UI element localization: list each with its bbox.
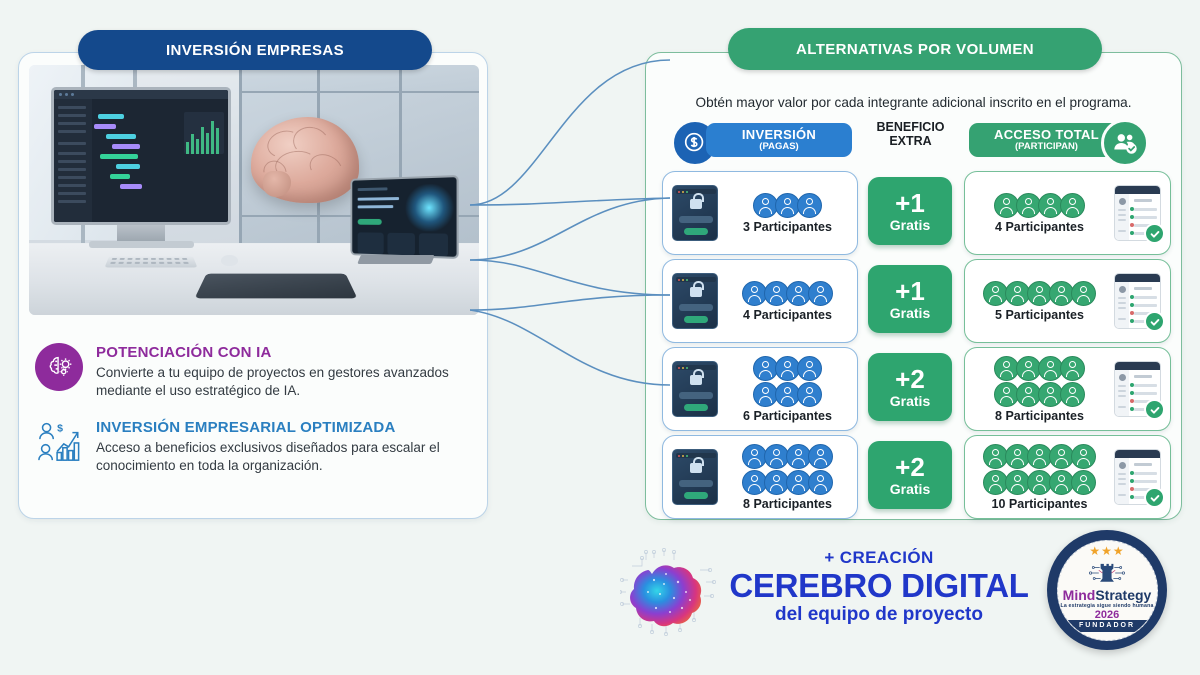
bullet-title: INVERSIÓN EMPRESARIAL OPTIMIZADA bbox=[96, 419, 467, 436]
table-row: 3 Participantes+1Gratis4 Participantes bbox=[646, 171, 1181, 255]
office-desk-photo bbox=[29, 65, 479, 315]
avatar bbox=[1071, 470, 1096, 495]
digital-brain-icon bbox=[620, 546, 716, 640]
left-panel-header: INVERSIÓN EMPRESAS bbox=[78, 30, 432, 70]
dashboard-thumbnail bbox=[1114, 361, 1161, 417]
left-panel-bullets: POTENCIACIÓN CON IA Convierte a tu equip… bbox=[19, 325, 487, 493]
avatar-row bbox=[996, 356, 1084, 381]
avatar bbox=[808, 281, 833, 306]
bonus-badge: +1Gratis bbox=[868, 177, 952, 245]
floating-brain-icon bbox=[251, 117, 359, 203]
benefit-label: BENEFICIO bbox=[854, 120, 967, 134]
bonus-badge: +2Gratis bbox=[868, 441, 952, 509]
avatar bbox=[797, 193, 822, 218]
bonus-sublabel: Gratis bbox=[890, 217, 930, 233]
participant-avatars bbox=[744, 444, 832, 495]
investment-card-body: 4 Participantes bbox=[718, 281, 857, 322]
connector-lines bbox=[470, 40, 670, 460]
login-lock-screen bbox=[672, 185, 718, 241]
investment-card[interactable]: 8 Participantes bbox=[662, 435, 858, 519]
total-participants-label: 10 Participantes bbox=[992, 497, 1088, 511]
tablet-stand bbox=[357, 255, 435, 264]
chess-rook-circuit-icon bbox=[1086, 558, 1128, 588]
investment-card[interactable]: 4 Participantes bbox=[662, 259, 858, 343]
bonus-badge: +1Gratis bbox=[868, 265, 952, 333]
brand-line-2: CEREBRO DIGITAL bbox=[720, 568, 1038, 604]
investment-label: INVERSIÓN bbox=[742, 128, 816, 142]
tablet-on-desk bbox=[195, 274, 358, 299]
avatar-row bbox=[985, 444, 1095, 469]
participant-avatars bbox=[996, 356, 1084, 407]
investment-panel: POTENCIACIÓN CON IA Convierte a tu equip… bbox=[18, 52, 488, 519]
people-check-icon bbox=[1101, 119, 1149, 167]
right-panel-header-label: ALTERNATIVAS POR VOLUMEN bbox=[796, 41, 1034, 58]
avatar-row bbox=[744, 470, 832, 495]
column-header-benefit: BENEFICIO EXTRA bbox=[854, 120, 967, 149]
access-card-body: 10 Participantes bbox=[965, 444, 1114, 511]
avatar bbox=[797, 356, 822, 381]
mindstrategy-logo-badge: ★★★ MindStrategy La estrategia sigue sie… bbox=[1047, 530, 1167, 650]
dashboard-thumbnail bbox=[1114, 185, 1161, 241]
avatar bbox=[797, 382, 822, 407]
bullet-description: Acceso a beneficios exclusivos diseñados… bbox=[96, 439, 467, 475]
mouse bbox=[221, 255, 238, 266]
avatar-row bbox=[755, 193, 821, 218]
monitor-base bbox=[89, 241, 194, 248]
bonus-amount: +1 bbox=[895, 278, 925, 304]
avatar-row bbox=[755, 356, 821, 381]
avatar bbox=[808, 444, 833, 469]
avatar bbox=[1071, 444, 1096, 469]
bonus-badge: +2Gratis bbox=[868, 353, 952, 421]
avatar-row bbox=[744, 444, 832, 469]
bonus-amount: +2 bbox=[895, 454, 925, 480]
bullet-item: $ INVERSIÓN EMPRESARIAL OPTIMIZADA Acces… bbox=[35, 418, 467, 475]
avatar-row bbox=[755, 382, 821, 407]
access-card[interactable]: 10 Participantes bbox=[964, 435, 1171, 519]
left-panel-header-label: INVERSIÓN EMPRESAS bbox=[166, 42, 344, 59]
dashboard-thumbnail bbox=[1114, 273, 1161, 329]
bonus-amount: +1 bbox=[895, 190, 925, 216]
logo-name-part2: Strategy bbox=[1095, 587, 1151, 603]
investment-card[interactable]: 6 Participantes bbox=[662, 347, 858, 431]
total-participants-label: 8 Participantes bbox=[995, 409, 1084, 423]
avatar bbox=[1060, 193, 1085, 218]
access-card-body: 5 Participantes bbox=[965, 281, 1114, 322]
bonus-amount: +2 bbox=[895, 366, 925, 392]
brand-block: + CREACIÓN CEREBRO DIGITAL del equipo de… bbox=[620, 540, 1040, 650]
access-card-body: 8 Participantes bbox=[965, 356, 1114, 423]
svg-text:$: $ bbox=[57, 422, 63, 434]
bonus-sublabel: Gratis bbox=[890, 305, 930, 321]
bonus-sublabel: Gratis bbox=[890, 481, 930, 497]
investment-sublabel: (PAGAS) bbox=[759, 142, 798, 152]
table-row: 8 Participantes+2Gratis10 Participantes bbox=[646, 435, 1181, 519]
participant-avatars bbox=[996, 193, 1084, 218]
access-card[interactable]: 8 Participantes bbox=[964, 347, 1171, 431]
tablet-screen bbox=[350, 175, 458, 259]
benefit-sublabel: EXTRA bbox=[854, 134, 967, 148]
avatar-row bbox=[985, 281, 1095, 306]
bullet-description: Convierte a tu equipo de proyectos en ge… bbox=[96, 364, 467, 400]
table-row: 4 Participantes+1Gratis5 Participantes bbox=[646, 259, 1181, 343]
participant-avatars bbox=[755, 193, 821, 218]
bonus-sublabel: Gratis bbox=[890, 393, 930, 409]
participant-avatars bbox=[755, 356, 821, 407]
access-label: ACCESO TOTAL bbox=[994, 128, 1099, 142]
participant-avatars bbox=[744, 281, 832, 306]
avatar bbox=[1060, 356, 1085, 381]
investment-card-body: 3 Participantes bbox=[718, 193, 857, 234]
avatar bbox=[1060, 382, 1085, 407]
panel-intro-text: Obtén mayor valor por cada integrante ad… bbox=[646, 95, 1181, 110]
paid-participants-label: 8 Participantes bbox=[743, 497, 832, 511]
avatar-row bbox=[985, 470, 1095, 495]
access-sublabel: (PARTICIPAN) bbox=[1015, 142, 1078, 152]
avatar bbox=[808, 470, 833, 495]
volume-alternatives-panel: Obtén mayor valor por cada integrante ad… bbox=[645, 52, 1182, 520]
logo-name: MindStrategy bbox=[1063, 588, 1152, 602]
participant-avatars bbox=[985, 444, 1095, 495]
monitor-screen bbox=[51, 87, 231, 225]
paid-participants-label: 4 Participantes bbox=[743, 308, 832, 322]
logo-name-part1: Mind bbox=[1063, 587, 1096, 603]
login-lock-screen bbox=[672, 449, 718, 505]
bullet-item: POTENCIACIÓN CON IA Convierte a tu equip… bbox=[35, 343, 467, 400]
avatar bbox=[1071, 281, 1096, 306]
table-row: 6 Participantes+2Gratis8 Participantes bbox=[646, 347, 1181, 431]
total-participants-label: 5 Participantes bbox=[995, 308, 1084, 322]
access-card-body: 4 Participantes bbox=[965, 193, 1114, 234]
logo-inner: ★★★ MindStrategy La estrategia sigue sie… bbox=[1057, 540, 1158, 641]
brand-line-1: + CREACIÓN bbox=[720, 548, 1038, 568]
investment-card-body: 6 Participantes bbox=[718, 356, 857, 423]
stars-icon: ★★★ bbox=[1089, 545, 1124, 557]
column-headers: INVERSIÓN (PAGAS) BENEFICIO EXTRA ACCESO… bbox=[646, 123, 1181, 165]
right-panel-header: ALTERNATIVAS POR VOLUMEN bbox=[728, 28, 1102, 70]
bullet-title: POTENCIACIÓN CON IA bbox=[96, 344, 467, 361]
access-card[interactable]: 4 Participantes bbox=[964, 171, 1171, 255]
total-participants-label: 4 Participantes bbox=[995, 220, 1084, 234]
brain-gear-icon bbox=[35, 343, 83, 391]
paid-participants-label: 6 Participantes bbox=[743, 409, 832, 423]
column-header-investment: INVERSIÓN (PAGAS) bbox=[706, 123, 852, 157]
paid-participants-label: 3 Participantes bbox=[743, 220, 832, 234]
investment-card-body: 8 Participantes bbox=[718, 444, 857, 511]
avatar-row bbox=[996, 382, 1084, 407]
login-lock-screen bbox=[672, 273, 718, 329]
access-card[interactable]: 5 Participantes bbox=[964, 259, 1171, 343]
investment-card[interactable]: 3 Participantes bbox=[662, 171, 858, 255]
business-growth-icon: $ bbox=[35, 418, 83, 466]
logo-ribbon: FUNDADOR bbox=[1058, 620, 1157, 632]
login-lock-screen bbox=[672, 361, 718, 417]
keyboard bbox=[105, 256, 198, 267]
avatar-row bbox=[744, 281, 832, 306]
brand-line-3: del equipo de proyecto bbox=[720, 604, 1038, 626]
participant-avatars bbox=[985, 281, 1095, 306]
avatar-row bbox=[996, 193, 1084, 218]
dashboard-thumbnail bbox=[1114, 449, 1161, 505]
